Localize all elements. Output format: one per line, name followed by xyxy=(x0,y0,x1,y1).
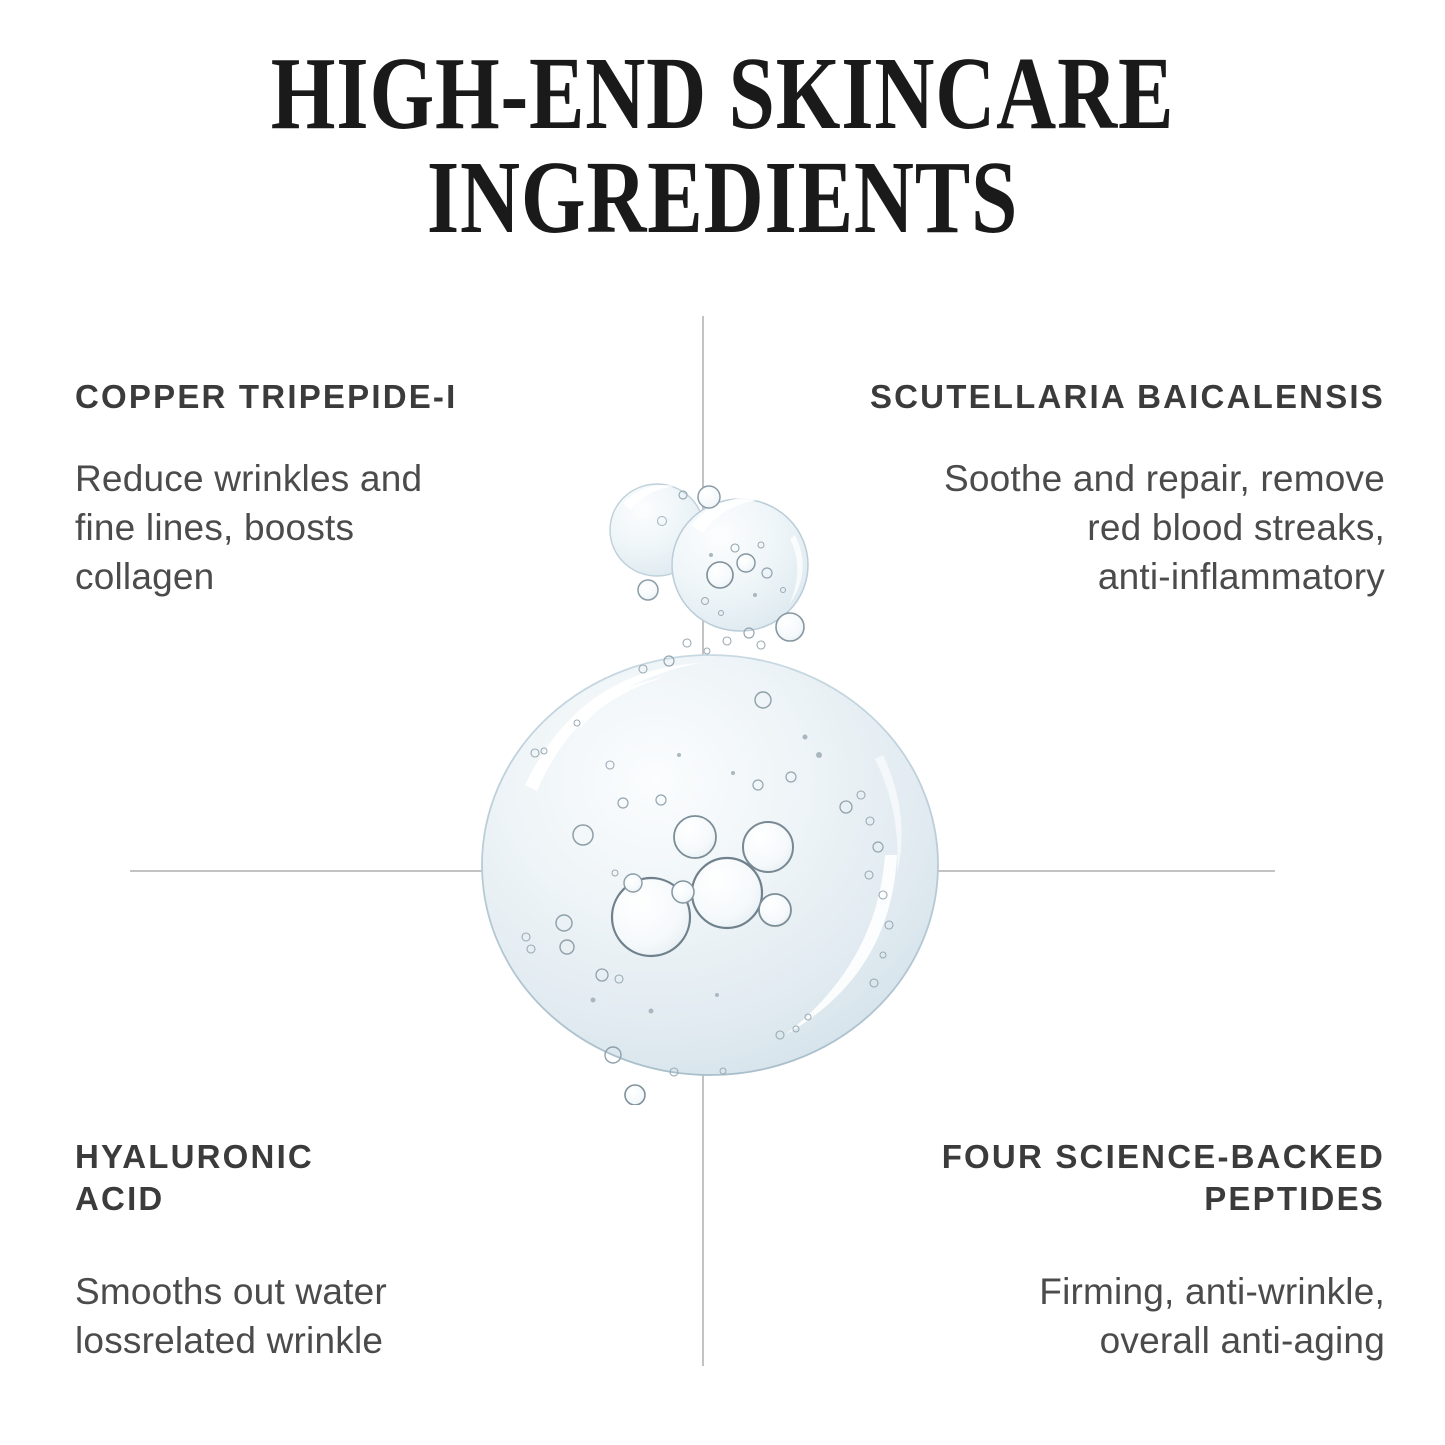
ingredient-block-copper-tripepide: COPPER TRIPEPIDE-I Reduce wrinkles and f… xyxy=(75,376,545,601)
droplet-small-left xyxy=(610,484,704,576)
page-title-line-1: HIGH-END SKINCARE xyxy=(145,42,1301,146)
ingredient-heading-four-science-backed-peptides: FOUR SCIENCE-BACKED PEPTIDES xyxy=(800,1136,1385,1220)
droplet-satellite-bubbles xyxy=(638,486,804,641)
page-title-line-2: INGREDIENTS xyxy=(145,146,1301,250)
vertical-divider xyxy=(702,316,704,1366)
droplet-large xyxy=(482,628,938,1105)
infographic-page: HIGH-END SKINCARE INGREDIENTS xyxy=(0,0,1445,1445)
ingredient-block-hyaluronic-acid: HYALURONIC ACID Smooths out water lossre… xyxy=(75,1136,545,1365)
ingredient-body-four-science-backed-peptides: Firming, anti-wrinkle, overall anti-agin… xyxy=(800,1267,1385,1365)
ingredient-body-copper-tripepide: Reduce wrinkles and fine lines, boosts c… xyxy=(75,454,545,601)
ingredient-heading-hyaluronic-acid: HYALURONIC ACID xyxy=(75,1136,545,1220)
ingredient-body-hyaluronic-acid: Smooths out water lossrelated wrinkle xyxy=(75,1267,545,1365)
ingredient-block-scutellaria-baicalensis: SCUTELLARIA BAICALENSIS Soothe and repai… xyxy=(800,376,1385,601)
ingredient-heading-copper-tripepide: COPPER TRIPEPIDE-I xyxy=(75,376,545,418)
ingredient-body-scutellaria-baicalensis: Soothe and repair, remove red blood stre… xyxy=(800,454,1385,601)
ingredient-block-four-science-backed-peptides: FOUR SCIENCE-BACKED PEPTIDES Firming, an… xyxy=(800,1136,1385,1365)
page-title: HIGH-END SKINCARE INGREDIENTS xyxy=(145,42,1301,250)
horizontal-divider xyxy=(130,870,1275,872)
droplet-small-right xyxy=(672,498,808,631)
ingredient-heading-scutellaria-baicalensis: SCUTELLARIA BAICALENSIS xyxy=(800,376,1385,418)
